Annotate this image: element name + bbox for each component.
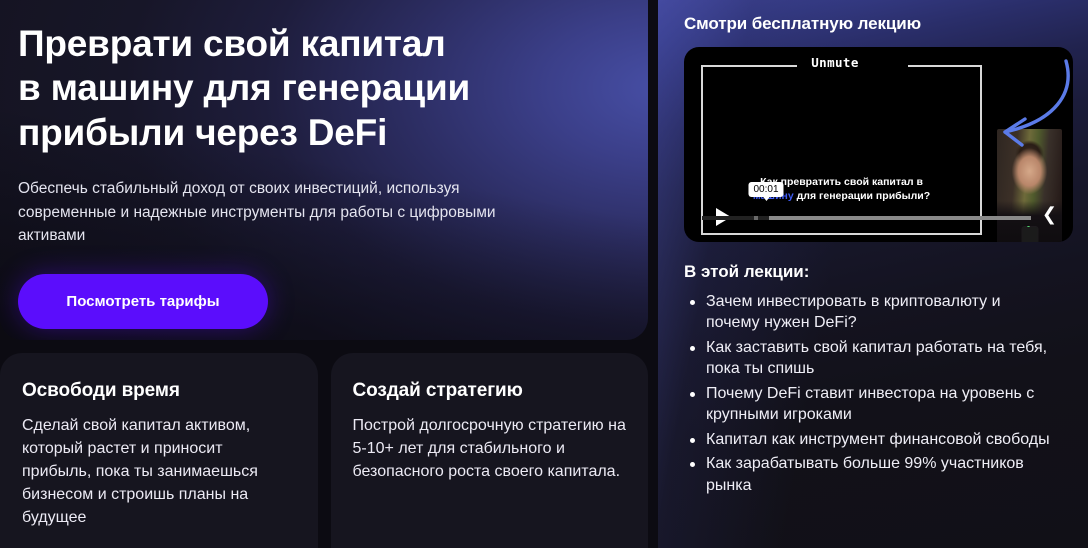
current-time-tooltip: 00:01: [748, 182, 783, 197]
card-title: Создай стратегию: [353, 380, 627, 402]
list-item: Зачем инвестировать в криптовалюту и поч…: [684, 291, 1056, 334]
right-column: Смотри бесплатную лекцию Unmute Как прев…: [658, 0, 1088, 548]
caption-part-before: Как превратить свой капитал в: [760, 176, 923, 188]
progress-buffered: [754, 216, 758, 220]
feature-card-strategy: Создай стратегию Построй долгосрочную ст…: [331, 353, 649, 548]
list-item: Капитал как инструмент финансовой свобод…: [684, 429, 1056, 450]
list-item: Как зарабатывать больше 99% участников р…: [684, 453, 1056, 496]
free-lecture-heading: Смотри бесплатную лекцию: [684, 14, 1076, 34]
lecture-contents-heading: В этой лекции:: [684, 262, 1076, 282]
landing-page: Преврати свой капитал в машину для генер…: [0, 0, 1088, 548]
feature-cards: Освободи время Сделай свой капитал актив…: [0, 353, 648, 548]
hero-content: Преврати свой капитал в машину для генер…: [0, 0, 648, 329]
progress-remaining: [769, 216, 1031, 220]
card-text: Построй долгосрочную стратегию на 5-10+ …: [353, 415, 627, 484]
feature-card-free-time: Освободи время Сделай свой капитал актив…: [0, 353, 318, 548]
chevron-left-icon[interactable]: ❮: [1042, 206, 1057, 224]
lecture-contents-list: Зачем инвестировать в криптовалюту и поч…: [684, 291, 1076, 496]
hero-section: Преврати свой капитал в машину для генер…: [0, 0, 648, 340]
video-controls: 00:01 ❮: [684, 204, 1073, 230]
video-caption: Как превратить свой капитал в машину для…: [702, 175, 981, 203]
video-progress-scrubber[interactable]: [702, 216, 1031, 220]
card-title: Освободи время: [22, 380, 296, 402]
page-title: Преврати свой капитал в машину для генер…: [18, 22, 622, 155]
hero-subtitle: Обеспечь стабильный доход от своих инвес…: [18, 177, 548, 248]
right-content: Смотри бесплатную лекцию Unmute Как прев…: [658, 0, 1088, 496]
list-item: Почему DeFi ставит инвестора на уровень …: [684, 383, 1056, 426]
caption-part-after: для генерации прибыли?: [797, 190, 931, 202]
progress-elapsed: [702, 216, 769, 220]
video-player[interactable]: Unmute Как превратить свой капитал в маш…: [684, 47, 1073, 242]
list-item: Как заставить свой капитал работать на т…: [684, 337, 1056, 380]
unmute-button[interactable]: Unmute: [811, 55, 859, 70]
view-pricing-button[interactable]: Посмотреть тарифы: [18, 274, 268, 329]
card-text: Сделай свой капитал активом, который рас…: [22, 415, 296, 529]
left-column: Преврати свой капитал в машину для генер…: [0, 0, 652, 548]
